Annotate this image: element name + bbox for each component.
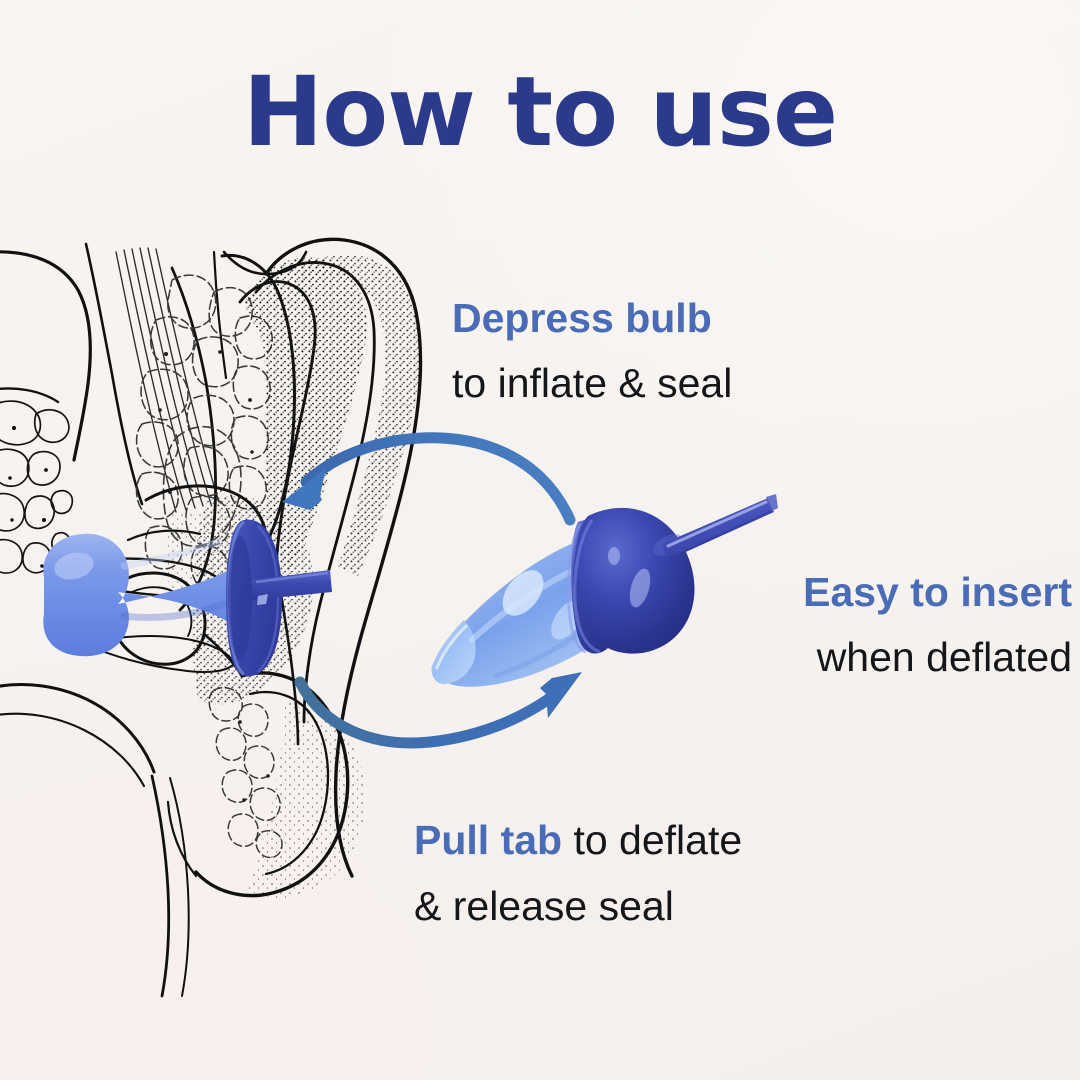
how-to-use-infographic: How to use Depress bulb to inflate & sea… (0, 0, 1080, 1080)
callout-insert-detail: when deflated (803, 625, 1072, 690)
callout-depress-emphasis: Depress bulb (452, 286, 732, 351)
callout-easy-to-insert: Easy to insert when deflated (803, 560, 1072, 690)
callout-pull-tab: Pull tab to deflate & release seal (414, 808, 742, 939)
callout-insert-emphasis: Easy to insert (803, 560, 1072, 625)
remove-direction-arrow (300, 672, 582, 743)
page-title: How to use (0, 62, 1080, 163)
callout-depress-bulb: Depress bulb to inflate & seal (452, 286, 732, 416)
callout-depress-emphasis-text: Depress bulb (452, 295, 712, 341)
callout-pull-inline-detail-text: to deflate (562, 817, 742, 863)
callout-pull-first-line: Pull tab to deflate (414, 808, 742, 874)
insert-direction-arrow (282, 438, 570, 520)
callout-insert-detail-text: when deflated (817, 634, 1072, 680)
callout-pull-second-detail-text: & release seal (414, 883, 674, 929)
callout-insert-emphasis-text: Easy to insert (803, 569, 1072, 615)
callout-depress-detail: to inflate & seal (452, 351, 732, 416)
callout-depress-detail-text: to inflate & seal (452, 360, 732, 406)
callout-pull-emphasis-text: Pull tab (414, 817, 562, 863)
callout-pull-second-line: & release seal (414, 874, 742, 940)
